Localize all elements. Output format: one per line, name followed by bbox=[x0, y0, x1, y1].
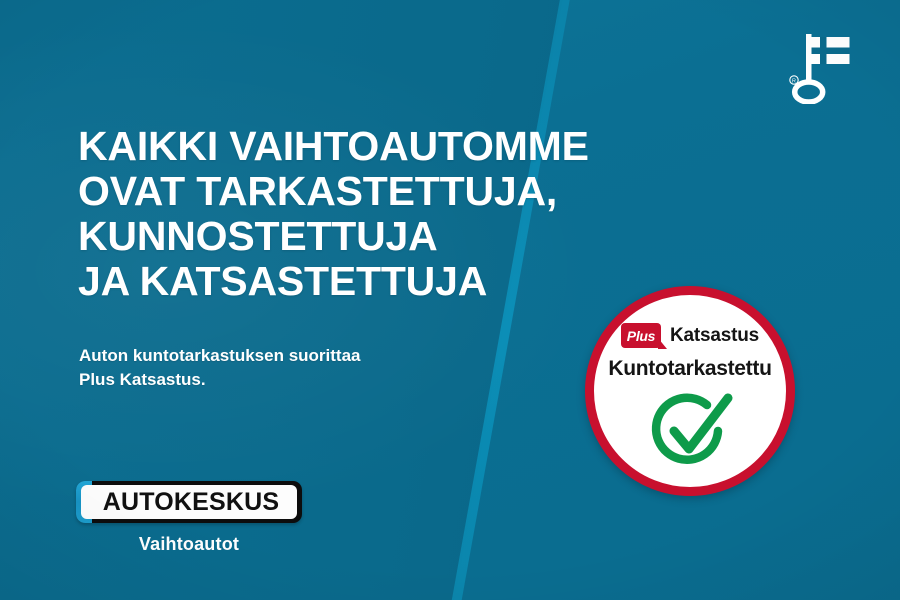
plate-inner: AUTOKESKUS bbox=[81, 485, 297, 519]
badge-brand-row: Plus Katsastus bbox=[594, 323, 786, 348]
autokeskus-wordmark: AUTOKESKUS bbox=[99, 490, 280, 515]
autokeskus-logo[interactable]: AUTOKESKUS Vaihtoautot bbox=[76, 481, 302, 555]
plus-logo-mark: Plus bbox=[621, 323, 661, 348]
svg-text:R: R bbox=[792, 79, 796, 85]
headline: KAIKKI VAIHTOAUTOMME OVAT TARKASTETTUJA,… bbox=[78, 124, 678, 304]
avainlippu-keyflag-logo: R bbox=[784, 26, 856, 104]
subheadline-line-1: Auton kuntotarkastuksen suorittaa bbox=[79, 344, 499, 368]
plus-logo-text: Plus bbox=[627, 329, 655, 343]
keyflag-icon: R bbox=[784, 26, 856, 104]
plus-logo-tail bbox=[658, 338, 667, 349]
katsastus-wordmark: Katsastus bbox=[666, 326, 759, 345]
check-icon-svg bbox=[644, 392, 736, 476]
logo-tagline: Vaihtoautot bbox=[76, 534, 302, 555]
autokeskus-logo-plate: AUTOKESKUS bbox=[76, 481, 302, 523]
badge-title: Kuntotarkastettu bbox=[594, 357, 786, 381]
green-check-circle-icon bbox=[644, 392, 736, 476]
headline-line-4: JA KATSASTETTUJA bbox=[78, 259, 678, 304]
subheadline-line-2: Plus Katsastus. bbox=[79, 368, 499, 392]
headline-line-1: KAIKKI VAIHTOAUTOMME bbox=[78, 124, 678, 169]
headline-line-2: OVAT TARKASTETTUJA, bbox=[78, 169, 678, 214]
subheadline: Auton kuntotarkastuksen suorittaa Plus K… bbox=[79, 344, 499, 392]
plus-katsastus-badge: Plus Katsastus Kuntotarkastettu bbox=[585, 286, 795, 496]
headline-line-3: KUNNOSTETTUJA bbox=[78, 214, 678, 259]
promo-banner: R KAIKKI VAIHTOAUTOMME OVAT TARKASTETTUJ… bbox=[0, 0, 900, 600]
